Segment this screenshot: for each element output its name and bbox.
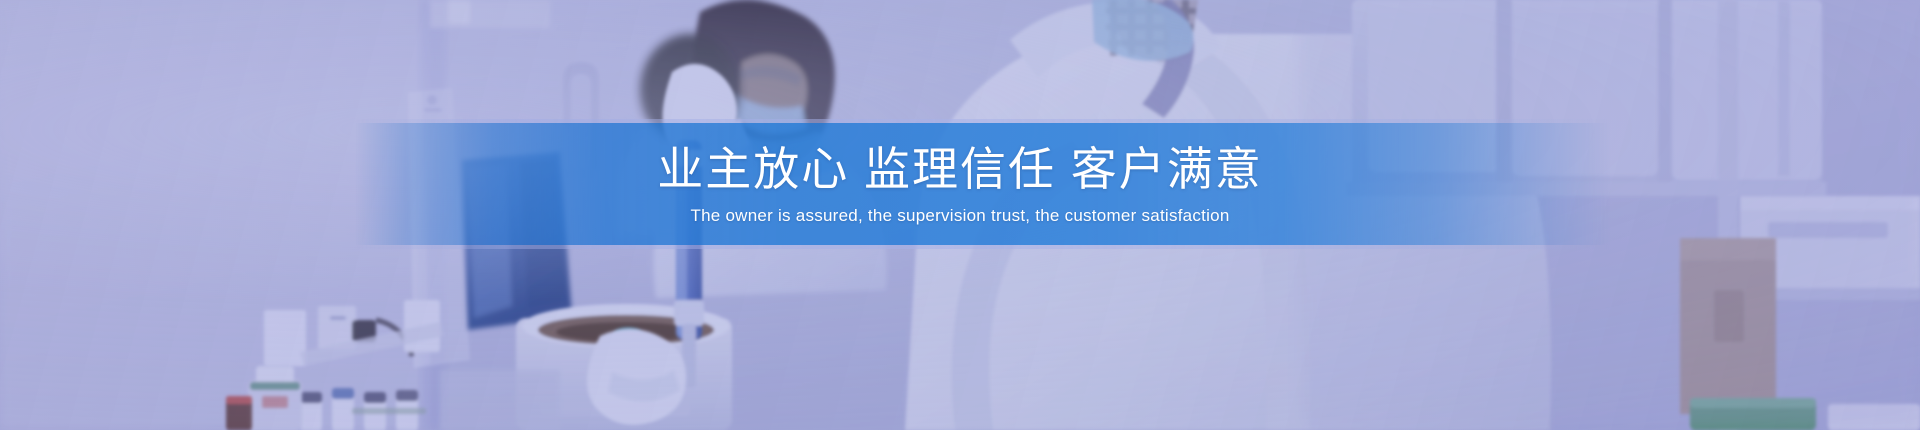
lab-photo-scene [0,0,1920,430]
hero-banner: 业主放心 监理信任 客户满意 The owner is assured, the… [0,0,1920,430]
